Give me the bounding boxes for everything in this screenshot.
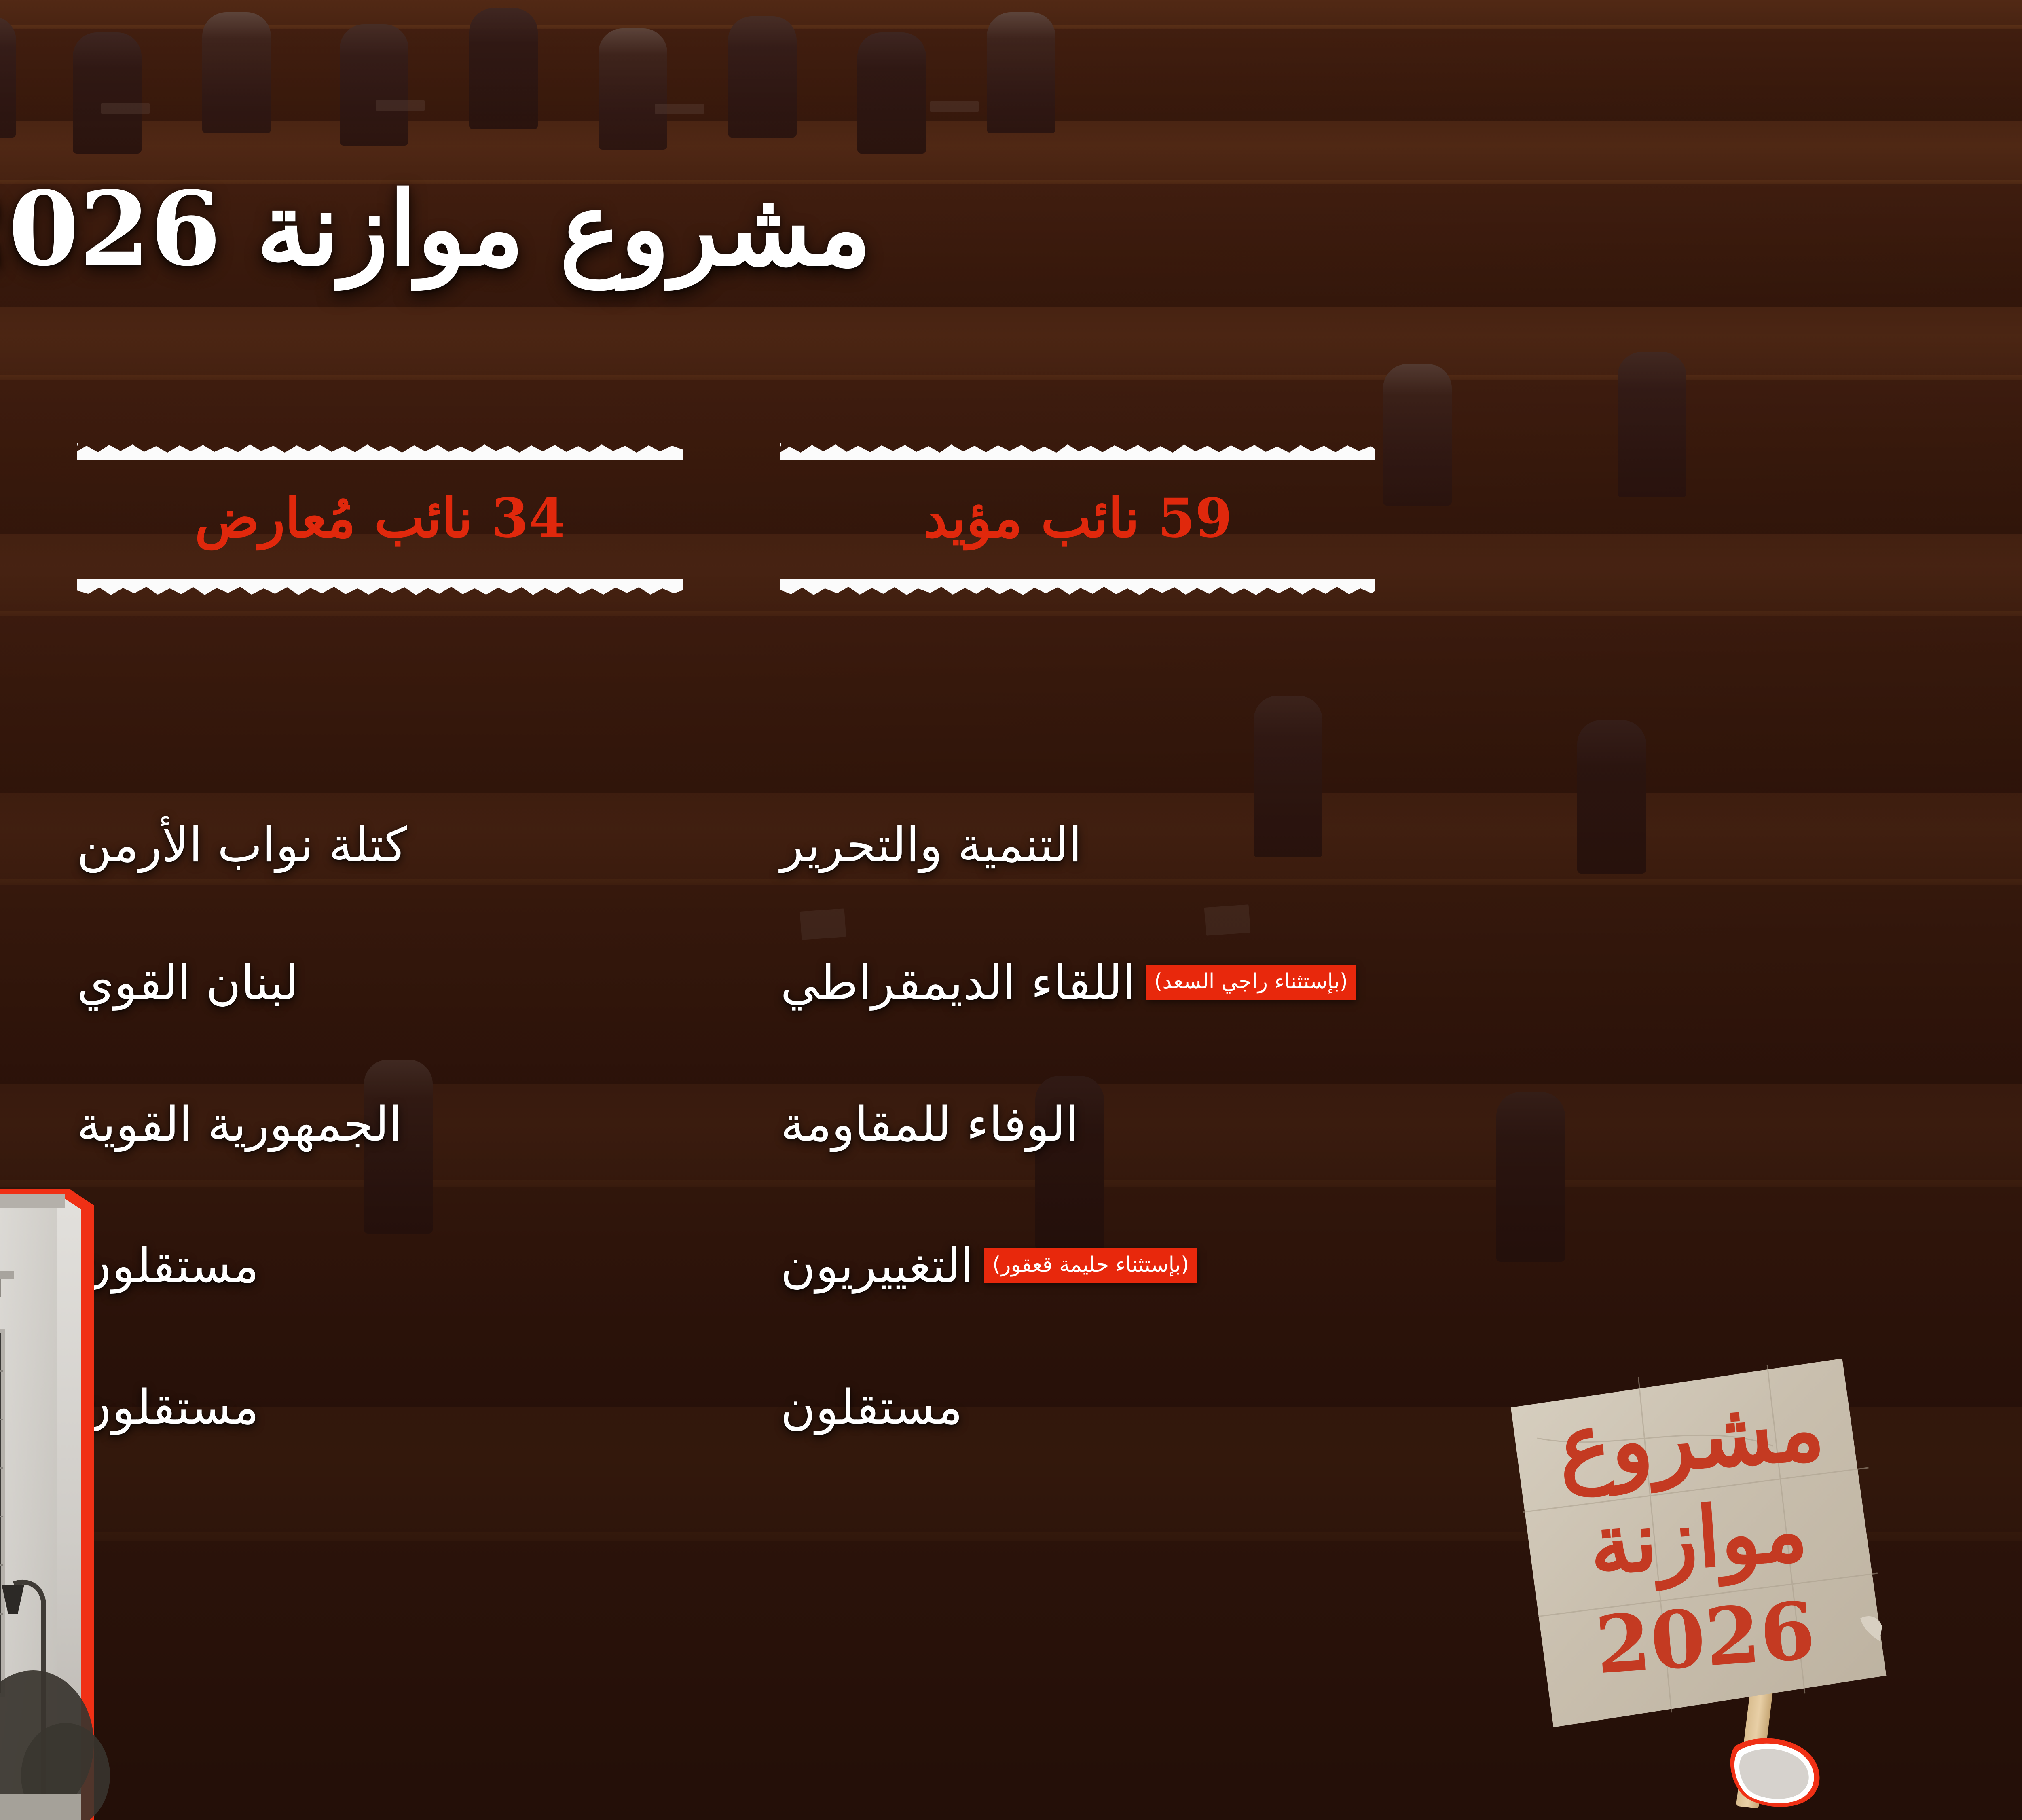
vote-summary-badges: 11 نائب ممتنع 34 نائب مُعارض 59 نائب مؤي…: [0, 443, 2022, 605]
sign-line-1: مشروع: [1555, 1377, 1827, 1500]
list-item: مستقلون: [77, 1383, 683, 1431]
badge-support-label: 59 نائب مؤيد: [780, 443, 1375, 597]
protest-sign-illustration: مشروع موازنة 2026: [1496, 1347, 1893, 1808]
bloc-name: مستقلون: [780, 1383, 962, 1431]
bloc-name: الوفاء للمقاومة: [780, 1100, 1079, 1148]
exception-badge: (بإستثناء حليمة قعقور): [984, 1248, 1197, 1283]
list-item: لبنان القوي: [77, 959, 683, 1006]
list-item: مستقلون: [77, 1242, 683, 1289]
badge-oppose-label: 34 نائب مُعارض: [77, 443, 683, 597]
list-item: (بإستثناء راجي السعد) اللقاء الديمقراطي: [780, 959, 1375, 1006]
bloc-name: لبنان القوي: [77, 959, 299, 1006]
badge-support[interactable]: 59 نائب مؤيد: [780, 443, 1375, 597]
list-item: كتلة نواب الأرمن: [77, 821, 683, 869]
column-support: التنمية والتحرير (بإستثناء راجي السعد) ا…: [780, 760, 1375, 1529]
bloc-name: كتلة نواب الأرمن: [77, 821, 407, 869]
sign-line-3: 2026: [1593, 1584, 1818, 1691]
parliament-building-illustration: [0, 1088, 154, 1820]
list-item: الوفاء للمقاومة: [780, 1100, 1375, 1148]
list-item: التنمية والتحرير: [780, 821, 1375, 869]
sign-line-2: موازنة: [1586, 1482, 1810, 1596]
exception-badge: (بإستثناء راجي السعد): [1146, 965, 1356, 1000]
badge-oppose[interactable]: 34 نائب مُعارض: [77, 443, 683, 597]
bloc-name: التنمية والتحرير: [780, 821, 1082, 869]
list-item: الجمهورية القوية: [77, 1100, 683, 1148]
bloc-name: اللقاء الديمقراطي: [780, 959, 1136, 1006]
list-item: (بإستثناء حليمة قعقور) التغييريون: [780, 1242, 1375, 1289]
page-title: مشروع موازنة 2026: [0, 178, 2022, 280]
list-item: مستقلون: [780, 1383, 1375, 1431]
bloc-name: التغييريون: [780, 1242, 974, 1289]
column-oppose: كتلة نواب الأرمن لبنان القوي الجمهورية ا…: [77, 760, 683, 1529]
